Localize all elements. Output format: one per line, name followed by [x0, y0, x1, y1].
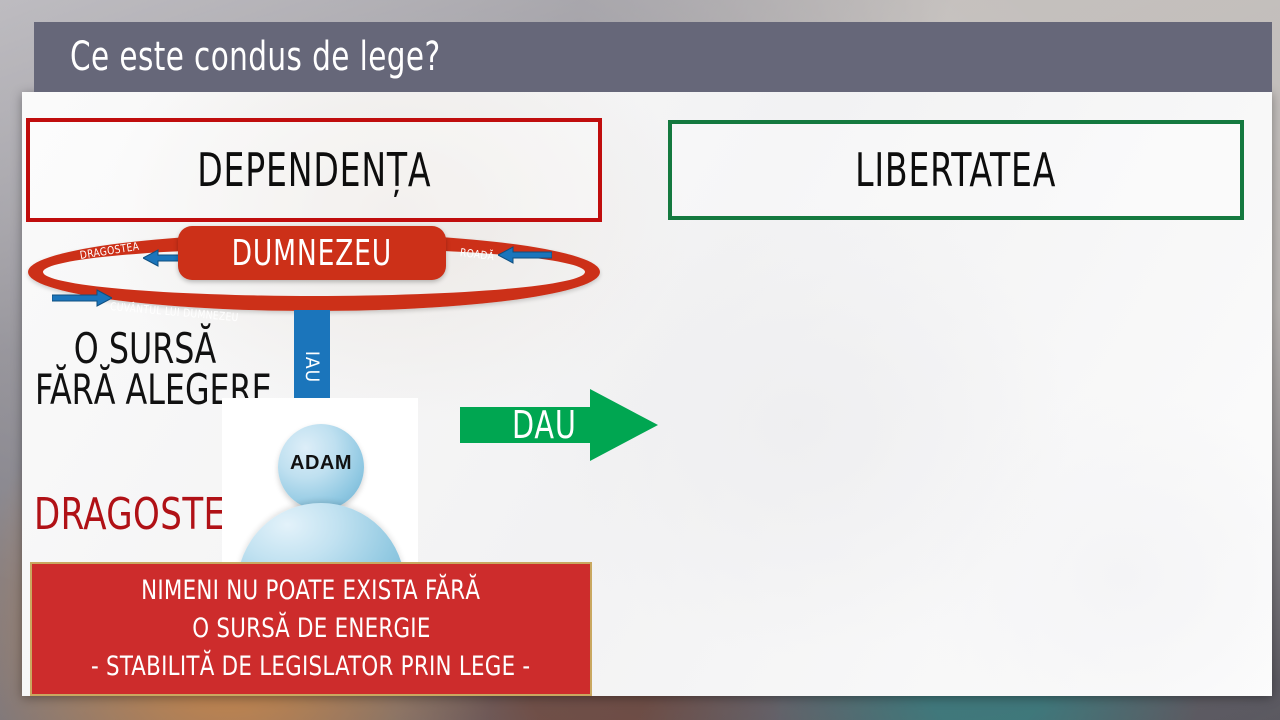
adam-person-icon: ADAM [222, 398, 418, 568]
arrow-right-cuvantul-icon [52, 289, 112, 307]
heading-label-libertatea: LIBERTATEA [855, 143, 1056, 197]
dau-right-arrow-icon: DAU [460, 389, 658, 461]
banner-line-2: O SURSĂ DE ENERGIE [192, 610, 430, 648]
slide-title: Ce este condus de lege? [70, 34, 441, 80]
heading-box-dependenta: DEPENDENȚA [26, 118, 602, 222]
statement-line-1: O SURSĂ [35, 328, 255, 369]
adam-head: ADAM [278, 424, 364, 510]
banner-line-1: NIMENI NU POATE EXISTA FĂRĂ [141, 572, 480, 610]
adam-label: ADAM [278, 452, 364, 475]
heading-box-libertatea: LIBERTATEA [668, 120, 1244, 220]
heading-label-dependenta: DEPENDENȚA [197, 143, 431, 197]
dragoste-label: DRAGOSTE [34, 489, 225, 540]
dumnezeu-label: DUMNEZEU [232, 233, 392, 274]
banner-line-3: - STABILITĂ DE LEGISLATOR PRIN LEGE - [91, 648, 530, 686]
dau-label: DAU [512, 403, 577, 447]
slide-title-bar: Ce este condus de lege? [34, 22, 1272, 92]
arrow-left-roada-icon [498, 246, 552, 264]
dumnezeu-box: DUMNEZEU [178, 226, 446, 280]
bottom-red-banner: NIMENI NU POATE EXISTA FĂRĂ O SURSĂ DE E… [30, 562, 592, 696]
slide-viewport: Ce este condus de lege? DEPENDENȚA LIBER… [0, 0, 1280, 720]
adam-body [237, 503, 405, 568]
iau-label: IAU [301, 351, 323, 383]
